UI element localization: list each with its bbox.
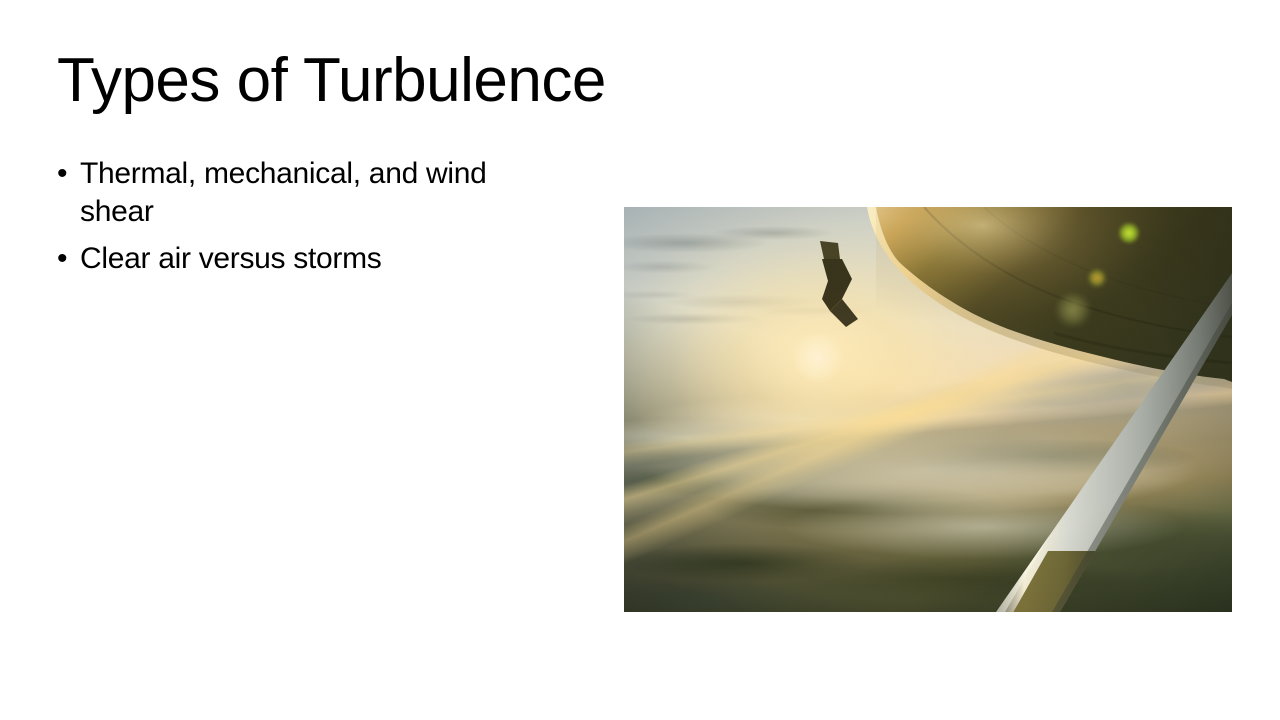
list-item-label: Thermal, mechanical, and wind shear [80,157,487,228]
slide-image[interactable] [624,207,1232,612]
list-item-label: Clear air versus storms [80,242,382,275]
body-placeholder[interactable]: •Thermal, mechanical, and wind shear •Cl… [57,155,562,278]
slide: Types of Turbulence •Thermal, mechanical… [0,0,1280,720]
bullet-icon: • [57,240,80,278]
page-title: Types of Turbulence [57,48,657,115]
list-item: •Clear air versus storms [57,240,562,278]
image-vignette [624,207,1232,612]
list-item: •Thermal, mechanical, and wind shear [57,155,562,232]
title-placeholder[interactable]: Types of Turbulence [57,48,657,115]
bullet-icon: • [57,155,80,193]
